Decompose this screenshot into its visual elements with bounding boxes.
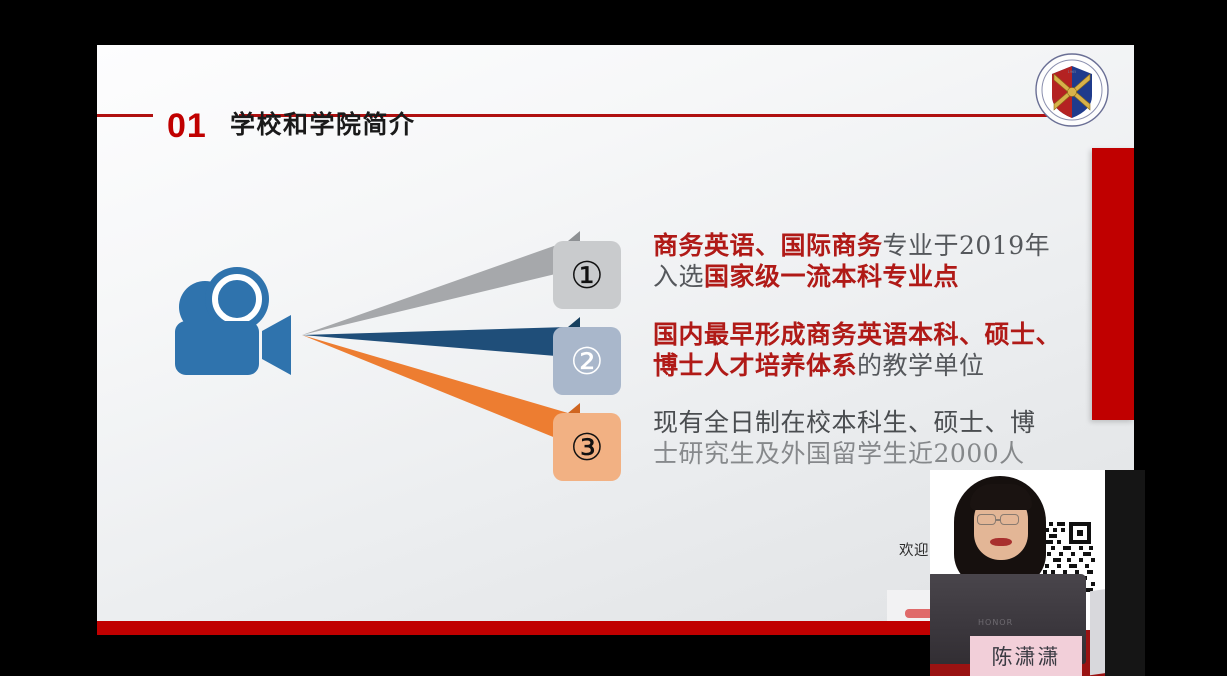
laptop-brand-label: HONOR — [978, 618, 1013, 627]
item1-line1-gray: 专业于2019年 — [883, 231, 1051, 260]
glasses-bridge — [996, 519, 1000, 521]
video-frame: 01 学校和学院简介 1965 — [0, 0, 1227, 676]
ray-1 — [302, 241, 568, 335]
university-crest-logo: 1965 — [1034, 52, 1110, 128]
item3-line1: 现有全日制在校本科生、硕士、博 — [653, 408, 1133, 439]
header-rule-left — [97, 114, 153, 117]
item3-line2: 士研究生及外国留学生近2000人 — [653, 439, 1133, 470]
item2-line1-red: 国内最早形成商务英语本科、硕士、 — [653, 320, 1061, 349]
movie-camera-icon — [167, 263, 297, 383]
speaker-lips — [990, 538, 1012, 546]
glasses-right-lens — [1000, 514, 1019, 525]
svg-text:1965: 1965 — [1068, 70, 1077, 74]
item-text-2: 国内最早形成商务英语本科、硕士、 博士人才培养体系的教学单位 — [653, 320, 1133, 381]
item-badge-1: ① — [553, 241, 621, 309]
speaker-name: 陈潇潇 — [992, 641, 1061, 671]
item-text-3: 现有全日制在校本科生、硕士、博 士研究生及外国留学生近2000人 — [653, 408, 1133, 469]
item1-line1-red: 商务英语、国际商务 — [653, 231, 883, 260]
item-text-1: 商务英语、国际商务专业于2019年 入选国家级一流本科专业点 — [653, 231, 1133, 292]
webcam-right-shadow — [1105, 470, 1145, 676]
item1-line2-red: 国家级一流本科专业点 — [704, 262, 959, 291]
speaker-webcam-overlay[interactable]: HONOR 陈潇潇 — [930, 470, 1145, 676]
ray-2 — [302, 327, 568, 357]
item1-line2-gray: 入选 — [653, 262, 704, 291]
glasses-left-lens — [977, 514, 996, 525]
item2-line2-gray: 的教学单位 — [857, 351, 985, 380]
page-title: 学校和学院简介 — [230, 113, 416, 138]
item-badge-3: ③ — [553, 413, 621, 481]
item-badge-2: ② — [553, 327, 621, 395]
item2-line2-red: 博士人才培养体系 — [653, 351, 857, 380]
speaker-fringe — [970, 484, 1032, 510]
right-accent-bar — [1092, 148, 1134, 420]
section-number: 01 — [167, 109, 207, 143]
speaker-name-card: 陈潇潇 — [970, 636, 1082, 676]
